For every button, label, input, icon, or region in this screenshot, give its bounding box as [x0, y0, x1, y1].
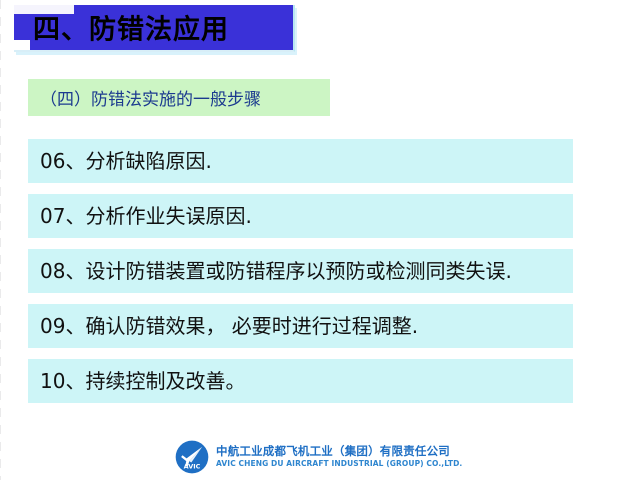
footer-company-logo: AVIC 中航工业成都飞机工业（集团）有限责任公司 AVIC CHENG DU …: [175, 440, 462, 474]
list-item: 10、持续控制及改善。: [28, 359, 573, 403]
slide-title-banner: 四、防错法应用: [14, 5, 295, 52]
section-subtitle: （四）防错法实施的一般步骤: [28, 85, 261, 110]
list-item: 09、确认防错效果， 必要时进行过程调整.: [28, 304, 573, 348]
slide-canvas: 四、防错法应用 （四）防错法实施的一般步骤 06、分析缺陷原因. 07、分析作业…: [0, 0, 640, 480]
avic-logo-icon: AVIC: [175, 440, 209, 474]
section-subtitle-box: （四）防错法实施的一般步骤: [28, 79, 330, 116]
company-name-cn: 中航工业成都飞机工业（集团）有限责任公司: [216, 445, 462, 458]
list-item: 06、分析缺陷原因.: [28, 139, 573, 183]
avic-logo-abbr: AVIC: [184, 463, 201, 471]
list-item: 07、分析作业失误原因.: [28, 194, 573, 238]
step-list: 06、分析缺陷原因. 07、分析作业失误原因. 08、设计防错装置或防错程序以预…: [28, 139, 573, 403]
title-banner-notch: [14, 40, 30, 50]
company-name-en: AVIC CHENG DU AIRCRAFT INDUSTRIAL (GROUP…: [216, 460, 462, 469]
list-item: 08、设计防错装置或防错程序以预防或检测同类失误.: [28, 249, 573, 293]
footer-company-text: 中航工业成都飞机工业（集团）有限责任公司 AVIC CHENG DU AIRCR…: [216, 445, 462, 469]
page-title: 四、防错法应用: [33, 7, 229, 46]
